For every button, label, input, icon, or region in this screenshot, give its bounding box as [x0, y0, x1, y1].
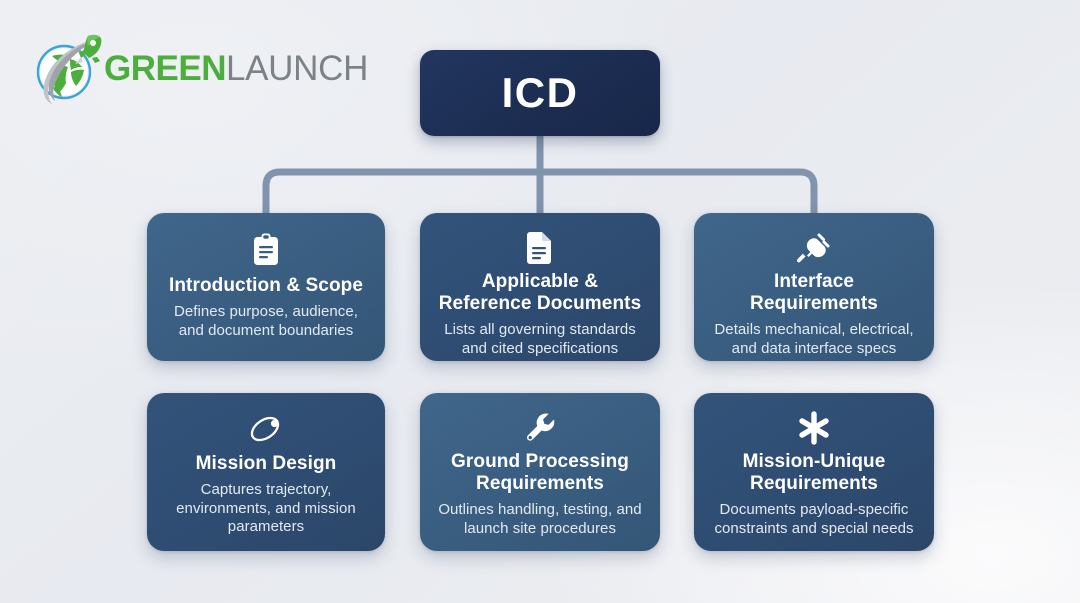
- node-card-description: Documents payload-specific constraints a…: [714, 501, 913, 539]
- root-node-label: ICD: [502, 69, 579, 117]
- node-card-title: Mission-Unique Requirements: [743, 451, 886, 495]
- node-card-mission-unique-requirements[interactable]: Mission-Unique Requirements Documents pa…: [694, 393, 934, 551]
- node-card-title: Mission Design: [196, 453, 337, 475]
- root-node-icd[interactable]: ICD: [420, 50, 660, 136]
- document-file-icon: [526, 231, 554, 265]
- node-card-description: Captures trajectory, environments, and m…: [176, 481, 356, 537]
- node-card-title: Interface Requirements: [708, 271, 920, 315]
- wrench-icon: [523, 411, 557, 445]
- node-card-ground-processing-requirements[interactable]: Ground Processing Requirements Outlines …: [420, 393, 660, 551]
- node-card-description: Defines purpose, audience, and document …: [174, 303, 358, 341]
- orbit-icon: [248, 411, 284, 447]
- node-card-mission-design[interactable]: Mission Design Captures trajectory, envi…: [147, 393, 385, 551]
- node-card-interface-requirements[interactable]: Interface Requirements Details mechanica…: [694, 213, 934, 361]
- node-card-title: Applicable & Reference Documents: [439, 271, 642, 315]
- node-card-introduction-scope[interactable]: Introduction & Scope Defines purpose, au…: [147, 213, 385, 361]
- node-card-description: Outlines handling, testing, and launch s…: [438, 501, 641, 539]
- diagram-canvas: GREEN LAUNCH ICD Introduction & Sco: [0, 0, 1080, 603]
- node-card-title: Ground Processing Requirements: [451, 451, 629, 495]
- node-card-applicable-reference-documents[interactable]: Applicable & Reference Documents Lists a…: [420, 213, 660, 361]
- clipboard-icon: [251, 231, 281, 269]
- power-plug-icon: [797, 231, 831, 265]
- node-card-description: Details mechanical, electrical, and data…: [714, 321, 913, 359]
- node-card-description: Lists all governing standards and cited …: [444, 321, 636, 359]
- asterisk-icon: [797, 411, 831, 445]
- node-card-title: Introduction & Scope: [169, 275, 363, 297]
